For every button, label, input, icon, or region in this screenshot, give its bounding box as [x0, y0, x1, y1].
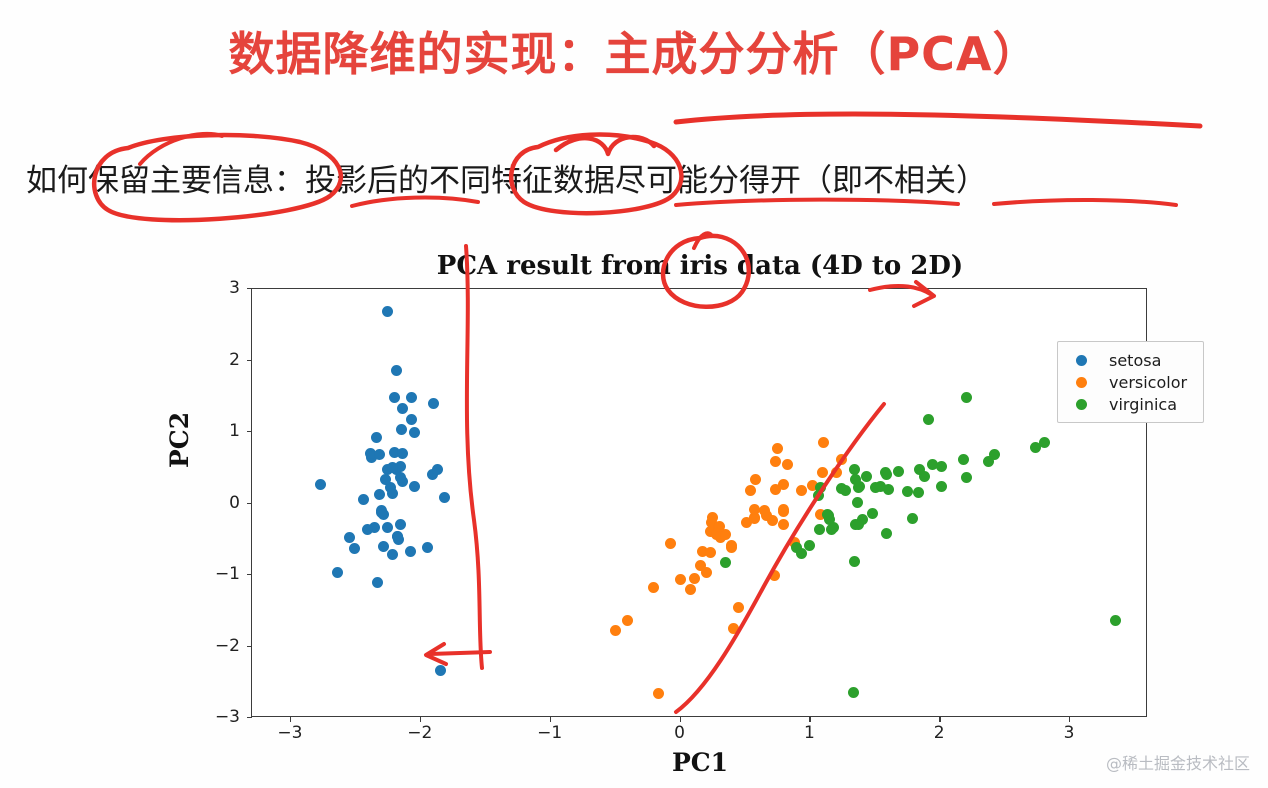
scatter-point-setosa: [315, 479, 326, 490]
y-tick-mark: [247, 360, 252, 361]
scatter-point-versicolor: [772, 443, 783, 454]
scatter-point-setosa: [397, 403, 408, 414]
x-tick-mark: [939, 717, 940, 722]
y-tick-mark: [247, 431, 252, 432]
pca-scatter-figure: PCA result from iris data (4D to 2D) set…: [170, 243, 1160, 773]
scatter-point-versicolor: [770, 456, 781, 467]
scatter-point-virginica: [867, 508, 878, 519]
scatter-point-setosa: [405, 546, 416, 557]
y-tick-mark: [247, 503, 252, 504]
x-tick-label: 0: [660, 723, 700, 743]
scatter-point-virginica: [913, 487, 924, 498]
y-tick-label: 3: [206, 278, 240, 298]
scatter-point-setosa: [382, 522, 393, 533]
scatter-point-virginica: [881, 528, 892, 539]
page-title: 数据降维的实现：主成分分析（PCA）: [0, 18, 1268, 84]
scatter-point-versicolor: [610, 625, 621, 636]
scatter-point-versicolor: [767, 515, 778, 526]
scatter-point-setosa: [432, 464, 443, 475]
scatter-point-setosa: [372, 577, 383, 588]
scatter-point-versicolor: [778, 519, 789, 530]
legend-swatch-versicolor: [1076, 377, 1087, 388]
underline-uncorrelated: [994, 200, 1176, 205]
scatter-point-setosa: [392, 531, 403, 542]
scatter-point-versicolor: [769, 570, 780, 581]
ellipse-different-features-peak: [556, 137, 654, 154]
scatter-point-virginica: [893, 466, 904, 477]
x-tick-mark: [550, 717, 551, 722]
y-tick-mark: [247, 574, 252, 575]
y-tick-label: −1: [206, 564, 240, 584]
scatter-point-virginica: [848, 687, 859, 698]
legend-item-virginica[interactable]: virginica: [1067, 393, 1194, 415]
y-tick-mark: [247, 717, 252, 718]
x-tick-label: 1: [789, 723, 829, 743]
scatter-point-virginica: [720, 557, 731, 568]
scatter-point-setosa: [349, 543, 360, 554]
legend-item-versicolor[interactable]: versicolor: [1067, 371, 1194, 393]
x-tick-label: 3: [1049, 723, 1089, 743]
scatter-point-versicolor: [685, 584, 696, 595]
slide-subtitle: 如何保留主要信息：投影后的不同特征数据尽可能分得开（即不相关）: [26, 155, 987, 200]
scatter-point-setosa: [395, 472, 406, 483]
scatter-point-versicolor: [778, 479, 789, 490]
scatter-point-setosa: [409, 481, 420, 492]
scatter-point-versicolor: [831, 467, 842, 478]
y-tick-label: −2: [206, 636, 240, 656]
scatter-point-virginica: [854, 481, 865, 492]
scatter-point-setosa: [406, 392, 417, 403]
y-tick-label: 0: [206, 493, 240, 513]
scatter-point-setosa: [374, 489, 385, 500]
scatter-point-virginica: [989, 449, 1000, 460]
scatter-point-versicolor: [817, 467, 828, 478]
scatter-point-virginica: [852, 497, 863, 508]
scatter-point-setosa: [387, 462, 398, 473]
scatter-point-virginica: [961, 472, 972, 483]
scatter-point-virginica: [826, 524, 837, 535]
x-axis-label: PC1: [250, 748, 1150, 777]
scatter-point-virginica: [907, 513, 918, 524]
y-tick-mark: [247, 288, 252, 289]
scatter-point-virginica: [840, 485, 851, 496]
scatter-point-versicolor: [836, 454, 847, 465]
scatter-point-virginica: [936, 461, 947, 472]
scatter-point-virginica: [1030, 442, 1041, 453]
y-tick-mark: [247, 646, 252, 647]
scatter-point-setosa: [395, 519, 406, 530]
scatter-point-setosa: [378, 509, 389, 520]
scatter-point-setosa: [358, 494, 369, 505]
x-tick-label: −1: [530, 723, 570, 743]
scatter-point-setosa: [428, 398, 439, 409]
x-tick-mark: [290, 717, 291, 722]
scatter-point-virginica: [902, 486, 913, 497]
scatter-point-versicolor: [701, 567, 712, 578]
scatter-point-setosa: [332, 567, 343, 578]
scatter-point-versicolor: [689, 573, 700, 584]
scatter-point-versicolor: [622, 615, 633, 626]
scatter-point-versicolor: [653, 688, 664, 699]
slide-canvas: 数据降维的实现：主成分分析（PCA） 如何保留主要信息：投影后的不同特征数据尽可…: [0, 0, 1268, 788]
scatter-point-setosa: [409, 427, 420, 438]
scatter-point-virginica: [958, 454, 969, 465]
scatter-point-virginica: [849, 556, 860, 567]
scatter-point-virginica: [961, 392, 972, 403]
scatter-point-versicolor: [733, 602, 744, 613]
scatter-point-virginica: [853, 519, 864, 530]
scatter-point-setosa: [391, 365, 402, 376]
scatter-point-setosa: [387, 549, 398, 560]
scatter-point-setosa: [397, 448, 408, 459]
chart-title: PCA result from iris data (4D to 2D): [250, 251, 1150, 281]
x-tick-label: −2: [400, 723, 440, 743]
x-tick-label: −3: [270, 723, 310, 743]
plot-area: setosa versicolor virginica: [251, 288, 1147, 717]
scatter-point-versicolor: [675, 574, 686, 585]
scatter-point-setosa: [422, 542, 433, 553]
x-tick-label: 2: [919, 723, 959, 743]
scatter-point-setosa: [389, 392, 400, 403]
legend-swatch-setosa: [1076, 355, 1087, 366]
scatter-point-setosa: [406, 414, 417, 425]
scatter-point-setosa: [439, 492, 450, 503]
scatter-point-virginica: [861, 471, 872, 482]
scatter-point-virginica: [815, 482, 826, 493]
scatter-point-versicolor: [796, 485, 807, 496]
scatter-point-virginica: [919, 471, 930, 482]
scatter-point-setosa: [382, 306, 393, 317]
scatter-point-setosa: [387, 488, 398, 499]
scatter-point-virginica: [822, 509, 833, 520]
x-tick-mark: [1069, 717, 1070, 722]
y-tick-label: 1: [206, 421, 240, 441]
scatter-point-versicolor: [648, 582, 659, 593]
scatter-point-versicolor: [818, 437, 829, 448]
y-tick-label: −3: [206, 707, 240, 727]
legend-label-versicolor: versicolor: [1109, 373, 1187, 392]
scatter-point-virginica: [870, 482, 881, 493]
scatter-point-virginica: [814, 524, 825, 535]
scatter-point-versicolor: [665, 538, 676, 549]
scatter-point-versicolor: [728, 623, 739, 634]
scatter-point-versicolor: [714, 521, 725, 532]
y-axis-label: PC2: [165, 412, 194, 468]
legend-item-setosa[interactable]: setosa: [1067, 349, 1194, 371]
x-tick-mark: [680, 717, 681, 722]
chart-legend: setosa versicolor virginica: [1057, 341, 1204, 423]
y-tick-label: 2: [206, 350, 240, 370]
legend-label-virginica: virginica: [1109, 395, 1177, 414]
scatter-point-versicolor: [705, 547, 716, 558]
scatter-point-virginica: [791, 542, 802, 553]
scatter-point-setosa: [371, 432, 382, 443]
scatter-point-virginica: [923, 414, 934, 425]
scatter-point-virginica: [1110, 615, 1121, 626]
scatter-point-setosa: [378, 541, 389, 552]
underline-separate-as-much: [676, 200, 958, 205]
underline-title-right: [676, 114, 1200, 126]
scatter-point-versicolor: [782, 459, 793, 470]
scatter-point-virginica: [936, 481, 947, 492]
scatter-point-setosa: [362, 524, 373, 535]
legend-label-setosa: setosa: [1109, 351, 1161, 370]
scatter-point-versicolor: [745, 485, 756, 496]
legend-swatch-virginica: [1076, 399, 1087, 410]
scatter-point-versicolor: [750, 474, 761, 485]
scatter-point-setosa: [396, 424, 407, 435]
x-tick-mark: [809, 717, 810, 722]
x-tick-mark: [420, 717, 421, 722]
scatter-point-versicolor: [726, 542, 737, 553]
scatter-point-versicolor: [778, 504, 789, 515]
scatter-point-setosa: [374, 449, 385, 460]
watermark: @稀土掘金技术社区: [1106, 750, 1250, 774]
scatter-point-setosa: [435, 665, 446, 676]
scatter-point-setosa: [344, 532, 355, 543]
